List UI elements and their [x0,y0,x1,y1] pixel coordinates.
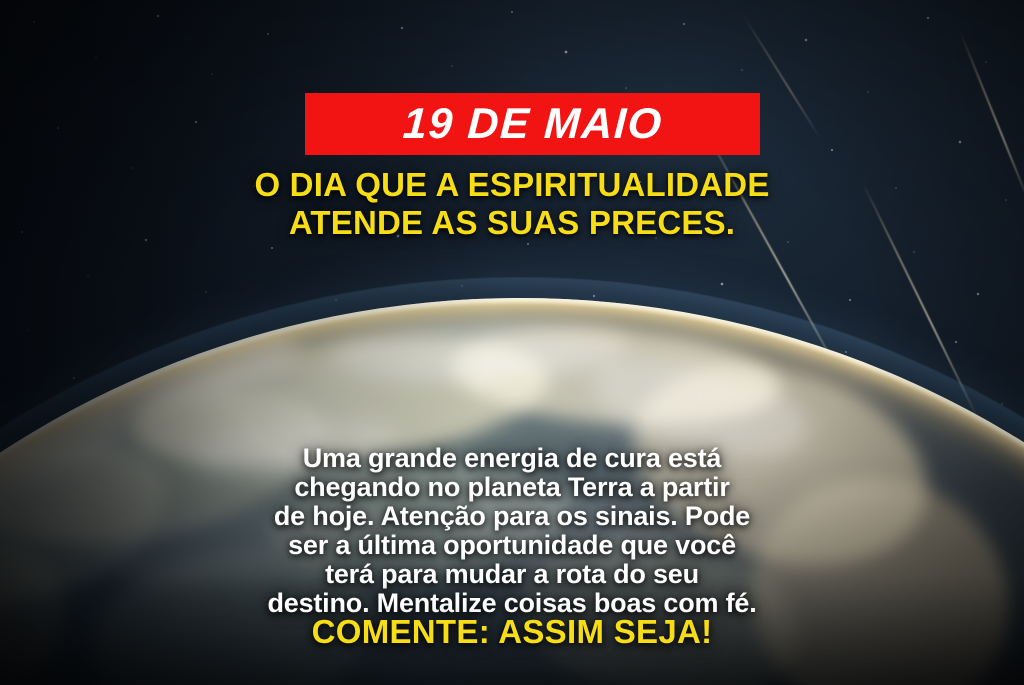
poster-image: 19 DE MAIO O DIA QUE A ESPIRITUALIDADE A… [0,0,1024,685]
body-line-5: terá para mudar a rota do seu [0,560,1024,589]
date-banner: 19 DE MAIO [305,93,760,155]
body-line-1: Uma grande energia de cura está [0,444,1024,473]
headline: O DIA QUE A ESPIRITUALIDADE ATENDE AS SU… [0,166,1024,243]
call-to-action-text: COMENTE: ASSIM SEJA! [0,613,1024,651]
content-layer: 19 DE MAIO O DIA QUE A ESPIRITUALIDADE A… [0,0,1024,685]
headline-line-2: ATENDE AS SUAS PRECES. [0,204,1024,242]
body-paragraph: Uma grande energia de cura está chegando… [0,444,1024,618]
body-line-4: ser a última oportunidade que você [0,531,1024,560]
headline-line-1: O DIA QUE A ESPIRITUALIDADE [0,166,1024,204]
date-banner-text: 19 DE MAIO [401,103,663,146]
body-line-2: chegando no planeta Terra a partir [0,473,1024,502]
body-line-3: de hoje. Atenção para os sinais. Pode [0,502,1024,531]
